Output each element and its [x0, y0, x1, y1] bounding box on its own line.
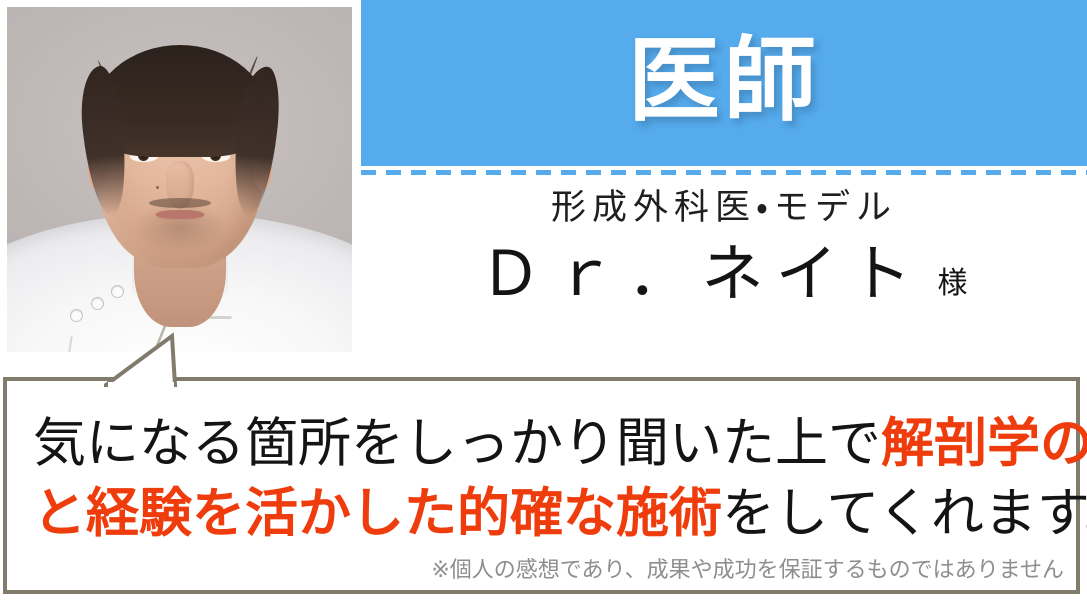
- quote-body: 気になる箇所をしっかり聞いた上で解剖学の知識 と経験を活かした的確な施術をしてく…: [7, 409, 1076, 549]
- profile-name: Ｄｒ．ネイト: [479, 242, 923, 307]
- quote-line-1-emphasis: 解剖学の知識: [881, 414, 1087, 473]
- quote-line-2-plain: をしてくれます。: [722, 484, 1087, 543]
- quote-line-1-plain: 気になる箇所をしっかり聞いた上で: [33, 414, 881, 473]
- profile-name-line: Ｄｒ．ネイト 様: [361, 242, 1087, 307]
- coat-button-icon: [92, 298, 103, 309]
- photo-canvas: [7, 7, 352, 352]
- coat-seam-icon: [65, 336, 73, 352]
- mouth: [156, 210, 204, 219]
- disclaimer-note: ※個人の感想であり、成果や成功を保証するものではありません: [431, 552, 1064, 584]
- quote-line-2-emphasis: と経験を活かした的確な施術: [33, 484, 722, 543]
- quote-line-2: と経験を活かした的確な施術をしてくれます。: [33, 479, 1050, 549]
- profile-block: 形成外科医・モデル Ｄｒ．ネイト 様: [361, 186, 1087, 307]
- profile-honorific: 様: [938, 258, 969, 302]
- quote-speech-bubble: 気になる箇所をしっかり聞いた上で解剖学の知識 と経験を活かした的確な施術をしてく…: [3, 377, 1080, 594]
- testimonial-card: 医師 形成外科医・モデル Ｄｒ．ネイト 様 気になる箇所をしっかり聞いた上で解剖…: [0, 0, 1087, 602]
- doctor-portrait-photo: [7, 7, 352, 352]
- headline-band: 医師: [361, 0, 1087, 166]
- mustache: [149, 198, 211, 208]
- mole: [156, 186, 159, 189]
- coat-button-icon: [112, 286, 123, 297]
- dashed-divider: [361, 170, 1087, 175]
- profile-role: 形成外科医・モデル: [361, 186, 1087, 230]
- headline-title: 医師: [628, 35, 820, 131]
- coat-button-icon: [71, 310, 82, 321]
- quote-line-1: 気になる箇所をしっかり聞いた上で解剖学の知識: [33, 409, 1050, 479]
